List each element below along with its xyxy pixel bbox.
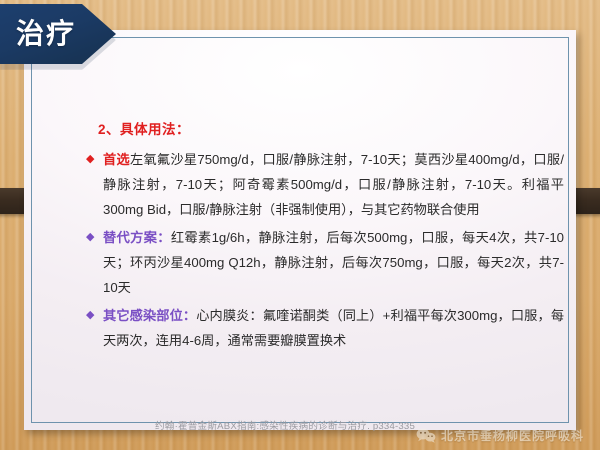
bullet-lead-other-sites: 其它感染部位：: [103, 308, 196, 323]
bullet-text-alternative-regimen: 替代方案：红霉素1g/6h，静脉注射，后每次500mg，口服，每天4次，共7-1…: [103, 225, 564, 300]
bullet-detail-primary: 左氧氟沙星750mg/d，口服/静脉注射，7-10天；莫西沙星400mg/d，口…: [103, 152, 564, 217]
bullet-item-primary-regimen: ◆ 首选左氧氟沙星750mg/d，口服/静脉注射，7-10天；莫西沙星400mg…: [86, 147, 564, 222]
bullet-item-alternative-regimen: ◆ 替代方案：红霉素1g/6h，静脉注射，后每次500mg，口服，每天4次，共7…: [86, 225, 564, 300]
page-title: 治疗: [0, 20, 76, 48]
bullet-text-primary-regimen: 首选左氧氟沙星750mg/d，口服/静脉注射，7-10天；莫西沙星400mg/d…: [103, 147, 564, 222]
watermark: 北京市垂杨柳医院呼吸科: [416, 427, 584, 444]
bullet-detail-alternative: 红霉素1g/6h，静脉注射，后每次500mg，口服，每天4次，共7-10天；环丙…: [103, 230, 564, 295]
diamond-bullet-red: ◆: [86, 147, 103, 172]
section-header-banner: 治疗: [0, 4, 116, 64]
watermark-text: 北京市垂杨柳医院呼吸科: [441, 427, 584, 444]
diamond-bullet-purple: ◆: [86, 225, 103, 250]
bullet-lead-primary: 首选: [103, 152, 130, 167]
slide-canvas: 2、具体用法： ◆ 首选左氧氟沙星750mg/d，口服/静脉注射，7-10天；莫…: [0, 0, 600, 450]
section-title: 2、具体用法：: [86, 118, 564, 138]
bullet-item-other-sites: ◆ 其它感染部位：心内膜炎：氟喹诺酮类（同上）+利福平每次300mg，口服，每天…: [86, 303, 564, 353]
diamond-bullet-purple: ◆: [86, 303, 103, 328]
bullet-lead-alternative: 替代方案：: [103, 230, 171, 245]
slide-body: 2、具体用法： ◆ 首选左氧氟沙星750mg/d，口服/静脉注射，7-10天；莫…: [86, 118, 564, 356]
content-panel: 2、具体用法： ◆ 首选左氧氟沙星750mg/d，口服/静脉注射，7-10天；莫…: [24, 30, 576, 430]
wechat-icon: [416, 428, 436, 443]
bullet-text-other-sites: 其它感染部位：心内膜炎：氟喹诺酮类（同上）+利福平每次300mg，口服，每天两次…: [103, 303, 564, 353]
